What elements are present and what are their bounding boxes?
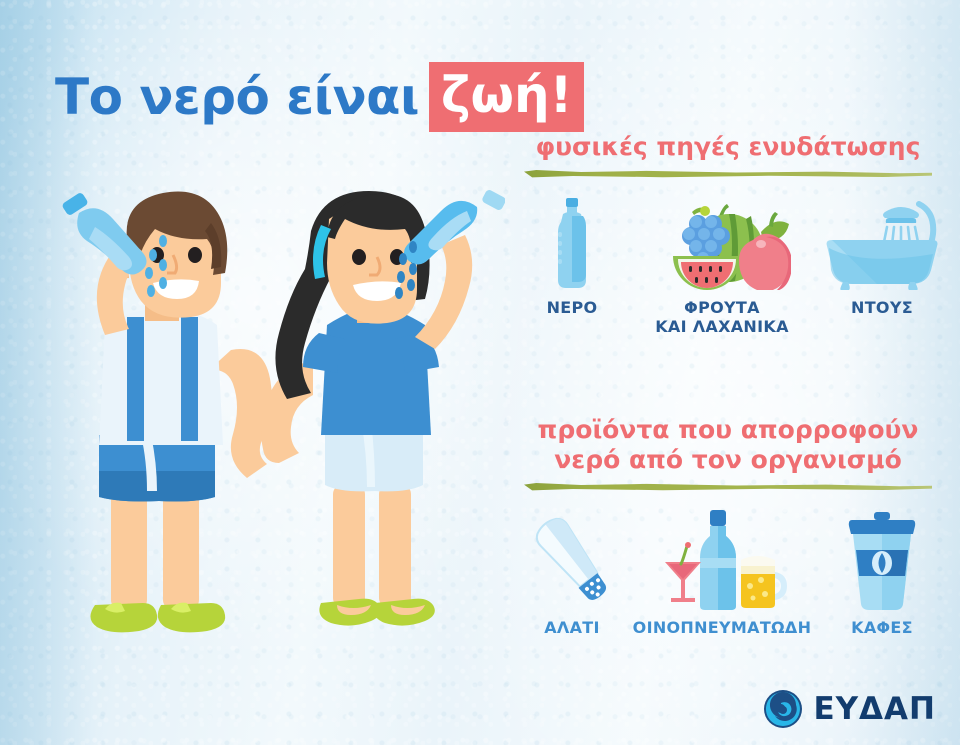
item-shower-label: ΝΤΟΥΣ <box>851 298 913 317</box>
alcohol-drinks-icon <box>657 510 787 610</box>
section-2-heading: προϊόντα που απορροφούν νερό από τον οργ… <box>512 415 944 475</box>
section-2-underline <box>524 483 932 492</box>
eydap-spiral-icon <box>763 689 803 729</box>
item-coffee[interactable]: ΚΑΦΕΣ <box>812 510 952 637</box>
section-natural-sources: φυσικές πηγές ενυδάτωσης <box>512 132 944 179</box>
salt-shaker-icon <box>527 510 617 610</box>
item-shower[interactable]: ΝΤΟΥΣ <box>812 198 952 336</box>
item-fruits-label: ΦΡΟΥΤΑ ΚΑΙ ΛΑΧΑΝΙΚΑ <box>655 298 789 336</box>
eydap-logo[interactable]: ΕΥΔΑΠ <box>763 689 936 729</box>
item-coffee-label: ΚΑΦΕΣ <box>851 618 913 637</box>
characters-illustration <box>35 185 505 655</box>
fruits-vegetables-icon <box>653 198 791 290</box>
section-1-underline <box>524 170 932 179</box>
girl-illustration <box>261 189 505 626</box>
title-main-text: Το νερό είναι <box>55 72 419 122</box>
boy-illustration <box>61 191 272 632</box>
item-alcohol-label: ΟΙΝΟΠΝΕΥΜΑΤΩΔΗ <box>633 618 812 637</box>
section-1-heading: φυσικές πηγές ενυδάτωσης <box>512 132 944 162</box>
coffee-cup-icon <box>842 510 922 610</box>
shower-bathtub-icon <box>823 198 941 290</box>
item-salt-label: ΑΛΑΤΙ <box>544 618 600 637</box>
item-water[interactable]: ΝΕΡΟ <box>512 198 632 336</box>
infographic-poster: Το νερό είναι ζωή! <box>0 0 960 745</box>
eydap-logo-text: ΕΥΔΑΠ <box>813 691 936 727</box>
natural-sources-grid: ΝΕΡΟ <box>512 198 952 336</box>
item-water-label: ΝΕΡΟ <box>547 298 598 317</box>
poster-title: Το νερό είναι ζωή! <box>55 62 584 132</box>
item-fruits-vegetables[interactable]: ΦΡΟΥΤΑ ΚΑΙ ΛΑΧΑΝΙΚΑ <box>632 198 812 336</box>
dehydrating-products-grid: ΑΛΑΤΙ <box>512 510 952 637</box>
water-bottle-icon <box>549 198 595 290</box>
section-dehydrating-products: προϊόντα που απορροφούν νερό από τον οργ… <box>512 415 944 492</box>
item-salt[interactable]: ΑΛΑΤΙ <box>512 510 632 637</box>
item-alcohol[interactable]: ΟΙΝΟΠΝΕΥΜΑΤΩΔΗ <box>632 510 812 637</box>
title-highlight-badge: ζωή! <box>429 62 584 132</box>
